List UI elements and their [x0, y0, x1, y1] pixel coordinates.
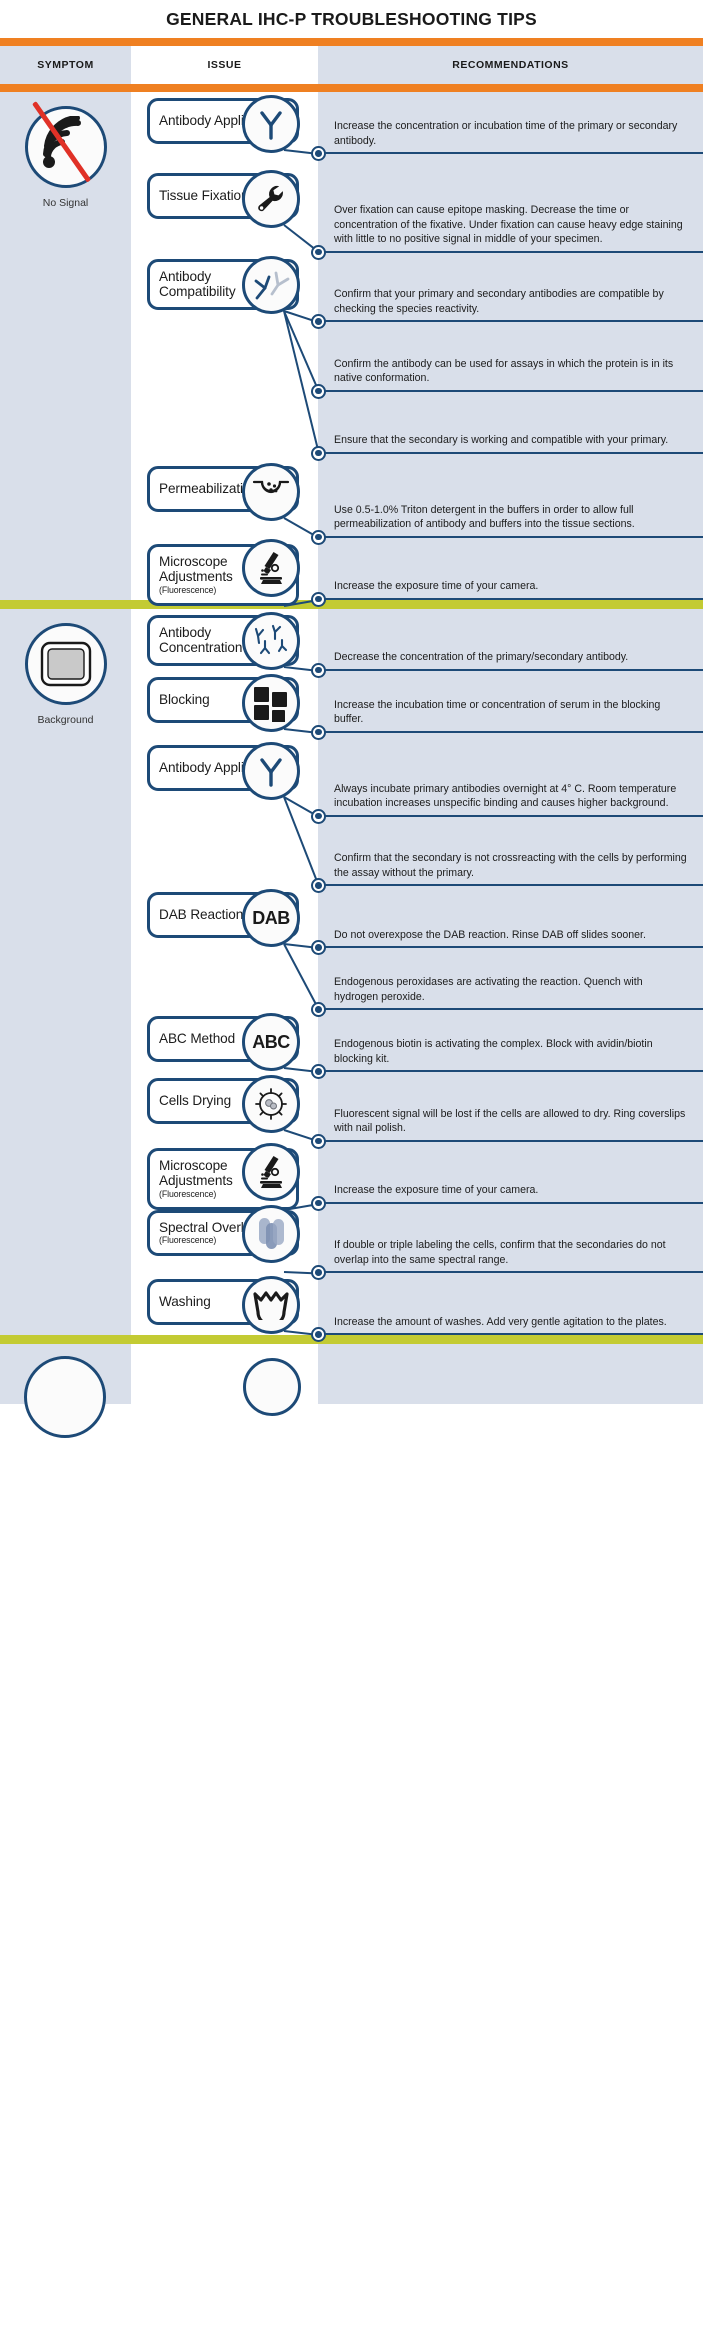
- issue-group: Increase the incubation time or concentr…: [131, 671, 703, 733]
- recommendation-node-marker: [311, 878, 326, 893]
- recommendation-stack: Decrease the concentration of the primar…: [318, 609, 703, 671]
- recommendation-row: Increase the concentration or incubation…: [318, 92, 703, 154]
- issue-cell: DAB ReactionDAB: [131, 886, 318, 1010]
- issue-rows-column: Decrease the concentration of the primar…: [131, 609, 703, 1336]
- recommendation-stack: Increase the exposure time of your camer…: [318, 1142, 703, 1204]
- recommendation-text: Increase the amount of washes. Add very …: [334, 1315, 667, 1335]
- issue-cell: ABC MethodABC: [131, 1010, 318, 1072]
- issue-pill[interactable]: Tissue Fixation: [147, 173, 299, 219]
- recommendation-text: Decrease the concentration of the primar…: [334, 650, 628, 670]
- washing-basin-icon: [242, 1276, 300, 1334]
- recommendation-divider: [318, 1333, 703, 1335]
- recommendation-node-marker: [311, 1327, 326, 1342]
- issue-group: Endogenous biotin is activating the comp…: [131, 1010, 703, 1072]
- recommendation-node-marker: [311, 592, 326, 607]
- recommendation-row: Increase the amount of washes. Add very …: [318, 1273, 703, 1335]
- recommendation-row: Confirm the antibody can be used for ass…: [318, 322, 703, 392]
- issue-pill[interactable]: Microscope Adjustments(Fluorescence): [147, 1148, 299, 1210]
- symptom-icon-partial: [24, 1356, 106, 1438]
- divider-orange-top: [0, 38, 703, 46]
- recommendation-text: Increase the exposure time of your camer…: [334, 579, 538, 599]
- sections-container: No SignalIncrease the concentration or i…: [0, 92, 703, 1404]
- symptom-column: No Signal: [0, 92, 131, 600]
- recommendation-stack: Over fixation can cause epitope masking.…: [318, 154, 703, 253]
- symptom-label: No Signal: [43, 197, 89, 209]
- recommendation-row: Fluorescent signal will be lost if the c…: [318, 1072, 703, 1142]
- recommendation-stack: If double or triple labeling the cells, …: [318, 1204, 703, 1274]
- recommendation-row: Decrease the concentration of the primar…: [318, 609, 703, 671]
- issue-group: Over fixation can cause epitope masking.…: [131, 154, 703, 253]
- recommendation-node-marker: [311, 1064, 326, 1079]
- recommendation-node-marker: [311, 314, 326, 329]
- symptom-column: Background: [0, 609, 131, 1336]
- recommendation-stack: Do not overexpose the DAB reaction. Rins…: [318, 886, 703, 1010]
- antibody-icon: [242, 95, 300, 153]
- issue-group: Decrease the concentration of the primar…: [131, 609, 703, 671]
- issue-pill[interactable]: Antibody Application: [147, 745, 299, 791]
- issue-rows-column: [131, 1344, 703, 1404]
- recommendation-row: Confirm that the secondary is not crossr…: [318, 817, 703, 887]
- recommendation-node-marker: [311, 809, 326, 824]
- recommendation-node-marker: [311, 1196, 326, 1211]
- recommendation-row: Ensure that the secondary is working and…: [318, 392, 703, 454]
- issue-cell: Microscope Adjustments(Fluorescence): [131, 538, 318, 600]
- recommendation-node-marker: [311, 1265, 326, 1280]
- issue-label: Washing: [159, 1294, 211, 1310]
- wrench-icon: [242, 170, 300, 228]
- recommendation-text: Confirm that your primary and secondary …: [334, 287, 689, 322]
- recommendation-text: Endogenous biotin is activating the comp…: [334, 1037, 689, 1072]
- recommendation-node-marker: [311, 146, 326, 161]
- cell-drying-icon: [242, 1075, 300, 1133]
- symptom-label: Background: [37, 714, 93, 726]
- issue-cell: Spectral Overlap(Fluorescence): [131, 1204, 318, 1274]
- issue-group: Confirm that your primary and secondary …: [131, 253, 703, 454]
- microscope-icon: [242, 1143, 300, 1201]
- recommendation-node-marker: [311, 1134, 326, 1149]
- issue-pill[interactable]: Microscope Adjustments(Fluorescence): [147, 544, 299, 606]
- recommendation-text: Confirm that the secondary is not crossr…: [334, 851, 689, 886]
- microscope-icon: [242, 539, 300, 597]
- recommendation-text: Always incubate primary antibodies overn…: [334, 782, 689, 817]
- recommendation-row: Always incubate primary antibodies overn…: [318, 733, 703, 817]
- recommendation-divider: [318, 598, 703, 600]
- symptom-column: [0, 1344, 131, 1404]
- spectral-overlap-icon: [242, 1205, 300, 1263]
- recommendation-node-marker: [311, 663, 326, 678]
- issue-cell: Blocking: [131, 671, 318, 733]
- issue-cell: Antibody Compatibility: [131, 253, 318, 454]
- recommendation-node-marker: [311, 384, 326, 399]
- recommendation-row: Do not overexpose the DAB reaction. Rins…: [318, 886, 703, 948]
- issue-pill[interactable]: Cells Drying: [147, 1078, 299, 1124]
- recommendation-node-marker: [311, 446, 326, 461]
- recommendation-text: Endogenous peroxidases are activating th…: [334, 975, 689, 1010]
- recommendation-text: Increase the concentration or incubation…: [334, 119, 689, 154]
- permeabilization-icon: [242, 463, 300, 521]
- divider-orange-bottom: [0, 84, 703, 92]
- issue-label: DAB Reaction: [159, 907, 243, 923]
- issue-label: Blocking: [159, 692, 210, 708]
- issue-pill[interactable]: Antibody Compatibility: [147, 259, 299, 311]
- recommendation-row: Endogenous biotin is activating the comp…: [318, 1010, 703, 1072]
- recommendation-stack: Endogenous biotin is activating the comp…: [318, 1010, 703, 1072]
- issue-icon-partial: [243, 1358, 301, 1416]
- issue-cell: Washing: [131, 1273, 318, 1335]
- recommendation-text: Increase the incubation time or concentr…: [334, 698, 689, 733]
- recommendation-text: Over fixation can cause epitope masking.…: [334, 203, 689, 252]
- antibody-pair-icon: [242, 256, 300, 314]
- recommendation-row: Use 0.5-1.0% Triton detergent in the buf…: [318, 454, 703, 538]
- issue-pill[interactable]: Blocking: [147, 677, 299, 723]
- recommendation-stack: Always incubate primary antibodies overn…: [318, 733, 703, 887]
- recommendation-row: Confirm that your primary and secondary …: [318, 253, 703, 323]
- issue-rows-column: Increase the concentration or incubation…: [131, 92, 703, 600]
- page-title-bar: GENERAL IHC-P TROUBLESHOOTING TIPS: [0, 0, 703, 38]
- issue-pill[interactable]: Antibody Application: [147, 98, 299, 144]
- issue-pill[interactable]: ABC MethodABC: [147, 1016, 299, 1062]
- recommendation-stack: Use 0.5-1.0% Triton detergent in the buf…: [318, 454, 703, 538]
- issue-pill[interactable]: Washing: [147, 1279, 299, 1325]
- issue-cell: Antibody Concentration: [131, 609, 318, 671]
- issue-group: Increase the exposure time of your camer…: [131, 1142, 703, 1204]
- issue-label: ABC Method: [159, 1031, 235, 1047]
- recommendation-text: Ensure that the secondary is working and…: [334, 433, 668, 453]
- issue-label: Tissue Fixation: [159, 188, 248, 204]
- issue-pill[interactable]: Spectral Overlap(Fluorescence): [147, 1210, 299, 1256]
- recommendation-row: Endogenous peroxidases are activating th…: [318, 948, 703, 1010]
- no-signal-icon: [25, 106, 107, 188]
- next-section-partial: [0, 1344, 703, 1404]
- infographic-page: GENERAL IHC-P TROUBLESHOOTING TIPS SYMPT…: [0, 0, 703, 1404]
- issue-pill[interactable]: Permeabilization: [147, 466, 299, 512]
- recommendation-text: Increase the exposure time of your camer…: [334, 1183, 538, 1203]
- issue-group: Use 0.5-1.0% Triton detergent in the buf…: [131, 454, 703, 538]
- page-title: GENERAL IHC-P TROUBLESHOOTING TIPS: [166, 9, 537, 30]
- divider-green: [0, 600, 703, 609]
- recommendation-text: Fluorescent signal will be lost if the c…: [334, 1107, 689, 1142]
- issue-group: If double or triple labeling the cells, …: [131, 1204, 703, 1274]
- issue-label: Cells Drying: [159, 1093, 231, 1109]
- issue-cell: Tissue Fixation: [131, 154, 318, 253]
- issue-group: Increase the amount of washes. Add very …: [131, 1273, 703, 1335]
- issue-cell: Antibody Application: [131, 92, 318, 154]
- recommendation-text: Confirm the antibody can be used for ass…: [334, 357, 689, 392]
- issue-group: Increase the exposure time of your camer…: [131, 538, 703, 600]
- recommendation-row: Increase the incubation time or concentr…: [318, 671, 703, 733]
- slide-background-icon: [25, 623, 107, 705]
- divider-green: [0, 1335, 703, 1344]
- recommendation-stack: Confirm that your primary and secondary …: [318, 253, 703, 454]
- recommendation-stack: Increase the exposure time of your camer…: [318, 538, 703, 600]
- recommendation-row: Increase the exposure time of your camer…: [318, 538, 703, 600]
- recommendation-node-marker: [311, 725, 326, 740]
- issue-cell: Permeabilization: [131, 454, 318, 538]
- recommendation-text: Use 0.5-1.0% Triton detergent in the buf…: [334, 503, 689, 538]
- symptom-section: BackgroundDecrease the concentration of …: [0, 609, 703, 1336]
- issue-cell: Microscope Adjustments(Fluorescence): [131, 1142, 318, 1204]
- column-header-recommendations: RECOMMENDATIONS: [318, 46, 703, 84]
- recommendation-node-marker: [311, 940, 326, 955]
- antibodies-many-icon: [242, 612, 300, 670]
- recommendation-row: Increase the exposure time of your camer…: [318, 1142, 703, 1204]
- recommendation-row: Over fixation can cause epitope masking.…: [318, 154, 703, 253]
- issue-group: Fluorescent signal will be lost if the c…: [131, 1072, 703, 1142]
- column-header-symptom: SYMPTOM: [0, 46, 131, 84]
- recommendation-stack: Increase the amount of washes. Add very …: [318, 1273, 703, 1335]
- recommendation-text: If double or triple labeling the cells, …: [334, 1238, 689, 1273]
- recommendation-stack: Increase the incubation time or concentr…: [318, 671, 703, 733]
- issue-group: Always incubate primary antibodies overn…: [131, 733, 703, 887]
- recommendation-node-marker: [311, 245, 326, 260]
- abc-text-icon: ABC: [242, 1013, 300, 1071]
- issue-pill[interactable]: Antibody Concentration: [147, 615, 299, 667]
- recommendation-node-marker: [311, 530, 326, 545]
- recommendation-stack: Increase the concentration or incubation…: [318, 92, 703, 154]
- column-header-issue: ISSUE: [131, 46, 318, 84]
- recommendation-row: If double or triple labeling the cells, …: [318, 1204, 703, 1274]
- issue-group: Increase the concentration or incubation…: [131, 92, 703, 154]
- recommendation-node-marker: [311, 1002, 326, 1017]
- symptom-section: No SignalIncrease the concentration or i…: [0, 92, 703, 600]
- dab-text-icon: DAB: [242, 889, 300, 947]
- issue-group: Do not overexpose the DAB reaction. Rins…: [131, 886, 703, 1010]
- blocking-squares-icon: [242, 674, 300, 732]
- column-header-band: SYMPTOM ISSUE RECOMMENDATIONS: [0, 46, 703, 84]
- antibody-icon: [242, 742, 300, 800]
- recommendation-stack: Fluorescent signal will be lost if the c…: [318, 1072, 703, 1142]
- issue-pill[interactable]: DAB ReactionDAB: [147, 892, 299, 938]
- recommendation-text: Do not overexpose the DAB reaction. Rins…: [334, 928, 646, 948]
